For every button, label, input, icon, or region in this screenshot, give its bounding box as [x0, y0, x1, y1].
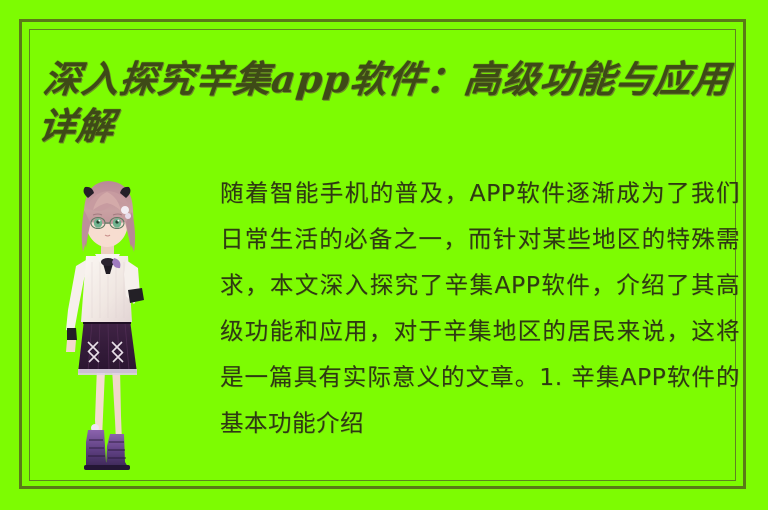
content-row: 随着智能手机的普及，APP软件逐渐成为了我们日常生活的必备之一，而针对某些地区的…: [40, 170, 740, 480]
article-body-text: 随着智能手机的普及，APP软件逐渐成为了我们日常生活的必备之一，而针对某些地区的…: [220, 170, 740, 446]
page-title: 深入探究辛集app软件：高级功能与应用详解: [36, 56, 746, 150]
anime-girl-illustration: [40, 170, 185, 475]
article-poster: 深入探究辛集app软件：高级功能与应用详解: [0, 0, 768, 510]
character-figure-icon: [40, 170, 185, 475]
article-body-container: 随着智能手机的普及，APP软件逐渐成为了我们日常生活的必备之一，而针对某些地区的…: [185, 170, 740, 475]
